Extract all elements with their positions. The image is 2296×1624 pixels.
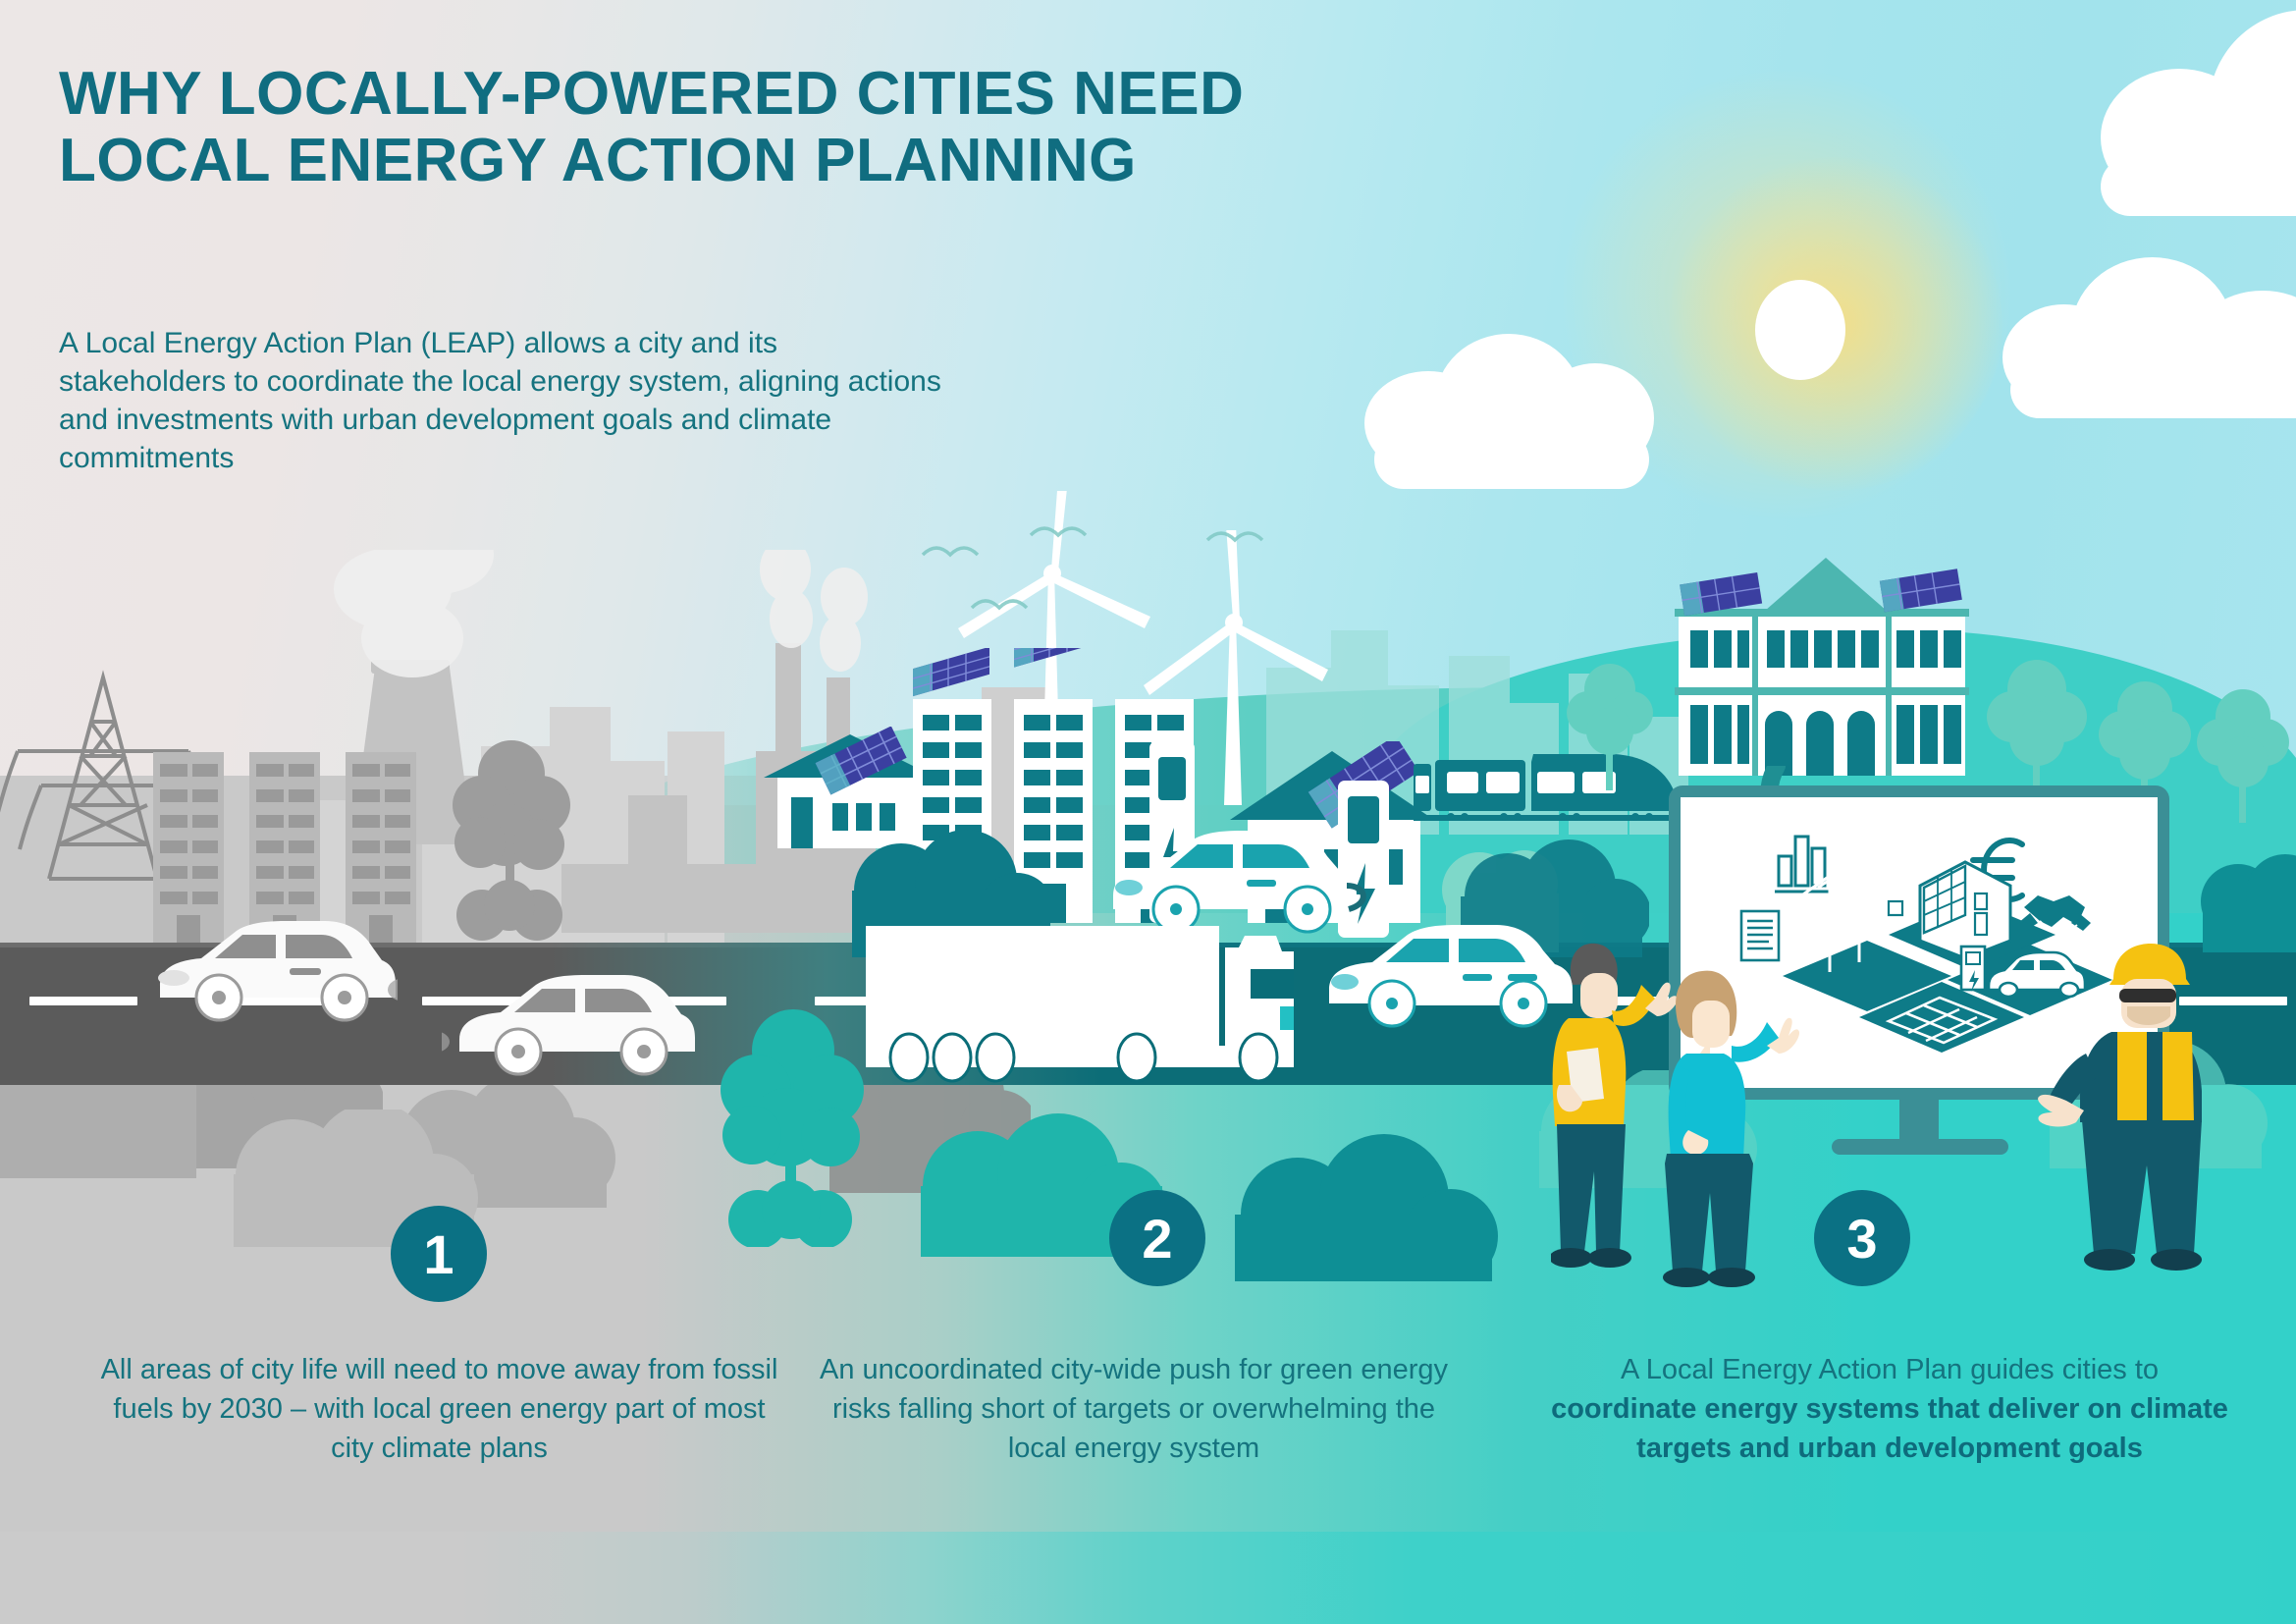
freight-truck-icon: [854, 908, 1364, 1090]
helmet: [2109, 944, 2190, 985]
step-text-3: A Local Energy Action Plan guides cities…: [1546, 1350, 2233, 1468]
ev-charger-icon: [1961, 947, 1985, 992]
step-text-1: All areas of city life will need to move…: [88, 1350, 790, 1468]
subtitle-text: A Local Energy Action Plan (LEAP) allows…: [59, 324, 942, 477]
teal-bush-icon: [1227, 1134, 1502, 1281]
teal-tree-icon: [2189, 677, 2296, 835]
electric-car-icon: [1315, 913, 1580, 1031]
trousers: [1665, 1154, 1753, 1272]
teal-tree-icon: [1561, 648, 1659, 795]
step-3-bold: coordinate energy systems that deliver o…: [1551, 1393, 2228, 1464]
step-text-2: An uncoordinated city-wide push for gree…: [805, 1350, 1463, 1468]
step-badge-3: 3: [1814, 1190, 1910, 1286]
solar-panel-icon: [1880, 568, 1962, 612]
site-worker-hivis: [2037, 938, 2223, 1281]
shoe: [1708, 1268, 1755, 1287]
shoe: [2084, 1249, 2135, 1271]
bottom-fade-band: [0, 1532, 2296, 1624]
face: [1692, 1001, 1730, 1048]
teal-bush-icon: [2199, 844, 2296, 952]
solar-panel-icon: [913, 648, 1192, 696]
trousers: [1557, 1124, 1626, 1252]
trousers: [2082, 1120, 2202, 1254]
document-icon: [1741, 911, 1779, 960]
shoe: [1551, 1248, 1592, 1268]
solar-house-icon: [1889, 862, 2010, 958]
open-hand: [2038, 1095, 2084, 1127]
grey-tree-icon: [447, 727, 574, 943]
sun-icon: [1755, 280, 1845, 380]
sunglasses: [2119, 989, 2176, 1002]
title-line-2: LOCAL ENERGY ACTION PLANNING: [59, 128, 1286, 194]
petrol-car-icon: [442, 957, 707, 1085]
step-3-lead: A Local Energy Action Plan guides cities…: [1621, 1354, 2159, 1385]
step-badge-2: 2: [1109, 1190, 1205, 1286]
raised-arm: [1732, 1022, 1779, 1062]
step-badge-1: 1: [391, 1206, 487, 1302]
shoe: [1588, 1248, 1631, 1268]
petrol-car-icon: [142, 903, 398, 1031]
presenter-woman-teal: [1659, 967, 1836, 1291]
teal-tree-icon: [717, 992, 874, 1247]
infographic-canvas: WHY LOCALLY-POWERED CITIES NEED LOCAL EN…: [0, 0, 2296, 1624]
page-title: WHY LOCALLY-POWERED CITIES NEED LOCAL EN…: [59, 61, 1286, 194]
hi-vis-vest: [2163, 1032, 2194, 1122]
hi-vis-vest: [2117, 1032, 2147, 1122]
birds-icon: [1178, 501, 1374, 609]
birds-icon: [913, 515, 1168, 623]
board-base: [1832, 1139, 2008, 1155]
shoe: [1663, 1268, 1710, 1287]
shoe: [2151, 1249, 2202, 1271]
board-stand: [1899, 1098, 1939, 1145]
title-line-1: WHY LOCALLY-POWERED CITIES NEED: [59, 61, 1286, 128]
town-hall-icon: [1659, 550, 1993, 776]
teal-tree-icon: [1983, 648, 2091, 805]
